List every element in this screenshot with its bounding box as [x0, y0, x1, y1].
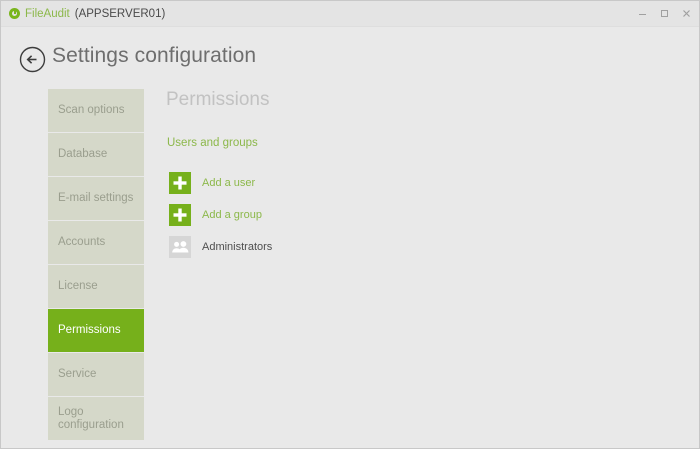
page-header: Settings configuration: [1, 26, 699, 84]
close-icon[interactable]: [680, 7, 693, 20]
app-name-label: FileAudit: [25, 8, 70, 20]
sidebar-item-email-settings[interactable]: E-mail settings: [48, 177, 144, 220]
sidebar-item-label: E-mail settings: [58, 192, 133, 205]
sidebar-item-label: License: [58, 280, 98, 293]
plus-icon: [169, 204, 191, 226]
sidebar-item-permissions[interactable]: Permissions: [48, 309, 144, 352]
plus-icon: [169, 172, 191, 194]
section-heading-users-and-groups: Users and groups: [167, 137, 258, 149]
users-and-groups-list: Add a user Add a group: [169, 169, 499, 260]
sidebar-item-label: Logo configuration: [58, 406, 144, 432]
settings-sidebar: Scan options Database E-mail settings Ac…: [48, 89, 144, 441]
sidebar-item-label: Service: [58, 368, 96, 381]
sidebar-item-service[interactable]: Service: [48, 353, 144, 396]
sidebar-item-scan-options[interactable]: Scan options: [48, 89, 144, 132]
sidebar-item-database[interactable]: Database: [48, 133, 144, 176]
title-bar: FileAudit (APPSERVER01): [1, 1, 699, 27]
add-a-group-label: Add a group: [202, 209, 262, 221]
content-heading: Permissions: [166, 89, 269, 111]
app-host-label: (APPSERVER01): [75, 8, 166, 20]
add-a-user-row[interactable]: Add a user: [169, 169, 499, 196]
fileaudit-logo-icon: [9, 8, 20, 19]
title-bar-text-group: FileAudit (APPSERVER01): [9, 1, 165, 26]
back-arrow-circle-icon[interactable]: [19, 46, 46, 73]
page-title: Settings configuration: [52, 44, 256, 68]
add-a-user-label: Add a user: [202, 177, 255, 189]
add-a-group-row[interactable]: Add a group: [169, 201, 499, 228]
sidebar-item-accounts[interactable]: Accounts: [48, 221, 144, 264]
window-controls: [636, 1, 693, 26]
sidebar-item-logo-configuration[interactable]: Logo configuration: [48, 397, 144, 440]
administrators-row[interactable]: Administrators: [169, 233, 499, 260]
minimize-icon[interactable]: [636, 7, 649, 20]
sidebar-item-label: Database: [58, 148, 107, 161]
administrators-label: Administrators: [202, 241, 272, 253]
application-window: FileAudit (APPSERVER01): [0, 0, 700, 449]
sidebar-item-label: Accounts: [58, 236, 105, 249]
maximize-icon[interactable]: [658, 7, 671, 20]
sidebar-item-label: Permissions: [58, 324, 121, 337]
sidebar-item-label: Scan options: [58, 104, 125, 117]
users-group-icon: [169, 236, 191, 258]
sidebar-item-license[interactable]: License: [48, 265, 144, 308]
